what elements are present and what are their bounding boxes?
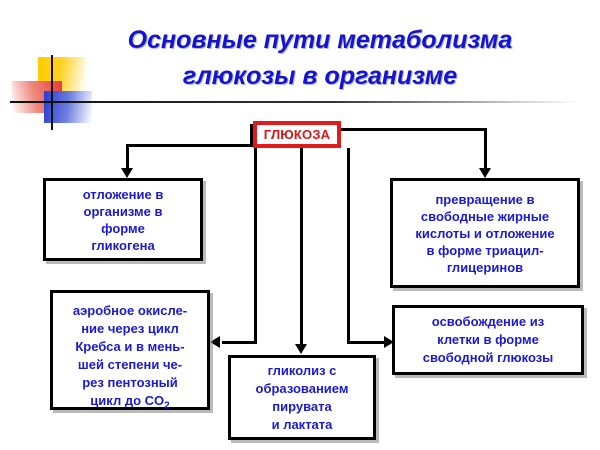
edge-root-to-release-horizontal [347, 341, 387, 344]
node-glucose[interactable]: ГЛЮКОЗА [253, 121, 341, 148]
logo-vertical-line [51, 55, 53, 130]
arrow-into-glycogen [121, 168, 133, 178]
edge-root-to-glycogen-vertical [126, 144, 129, 170]
arrow-into-aerobic [210, 336, 220, 348]
edge-root-to-aerobic-vertical [254, 148, 257, 344]
page-title: Основные пути метаболизма глюкозы в орга… [70, 22, 570, 94]
node-aerobic-oxidation[interactable]: аэробное окисле- ние через цикл Кребса и… [50, 290, 210, 410]
arrow-into-fatty [479, 168, 491, 178]
edge-root-to-fatty-horizontal [341, 128, 487, 131]
node-aerobic-subscript: 2 [164, 401, 170, 412]
edge-root-to-aerobic-horizontal [222, 341, 257, 344]
slide-canvas: Основные пути метаболизма глюкозы в орга… [0, 0, 600, 450]
node-glucose-release[interactable]: освобождение из клетки в форме свободной… [392, 305, 584, 375]
edge-root-to-glycogen-horizontal [126, 144, 253, 147]
node-fatty-acid-conversion[interactable]: превращение в свободные жирные кислоты и… [390, 178, 580, 288]
edge-root-to-glycolysis-vertical [300, 148, 303, 348]
edge-root-to-release-vertical [347, 148, 350, 344]
header-divider-rule [28, 101, 580, 103]
node-glycogen-storage[interactable]: отложение в организме в форме гликогена [43, 178, 203, 261]
arrow-into-glycolysis [295, 344, 307, 354]
node-aerobic-text: аэробное окисле- ние через цикл Кребса и… [73, 303, 187, 408]
edge-root-to-fatty-vertical [484, 128, 487, 170]
node-glycolysis[interactable]: гликолиз с образованием пирувата и лакта… [228, 355, 376, 440]
